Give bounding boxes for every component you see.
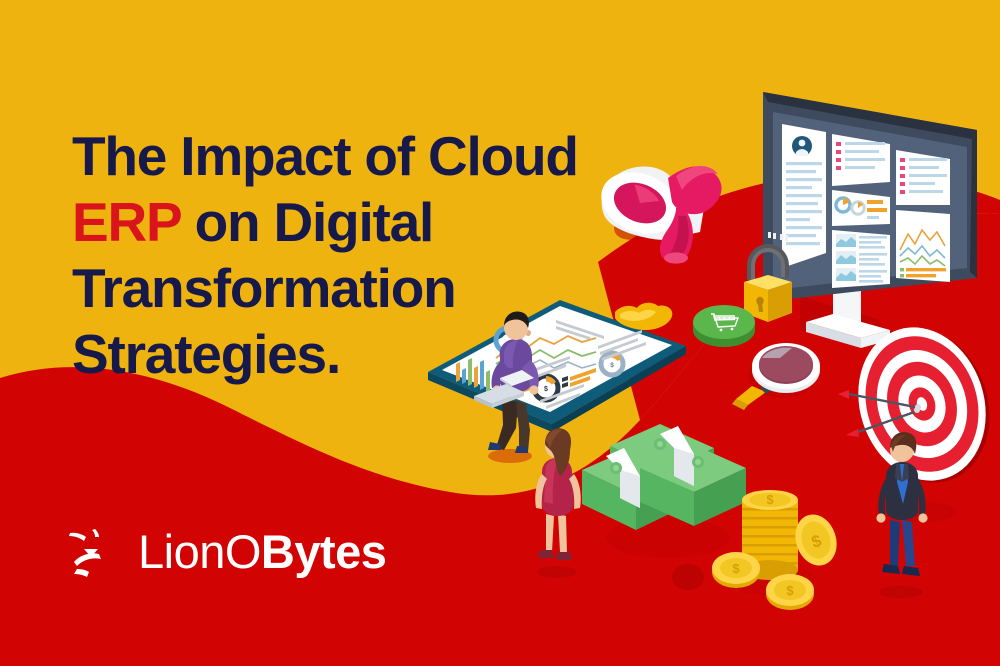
coin-symbol: $	[766, 492, 774, 507]
headline-accent-erp: ERP	[72, 191, 181, 253]
headline-line-4: Strategies.	[72, 323, 340, 385]
logo-text-bold: Bytes	[261, 525, 387, 578]
monitor-dashboard	[763, 92, 977, 348]
money-stacks	[582, 424, 746, 558]
magnifier	[732, 343, 820, 410]
svg-text:$: $	[544, 386, 548, 393]
brand-logo[interactable]: LionOBytes	[68, 524, 386, 578]
banner-canvas: $ $	[0, 0, 1000, 666]
headline-line-1: The Impact of Cloud	[72, 125, 578, 187]
logo-wordmark: LionOBytes	[138, 528, 386, 575]
headline-line-3: Transformation	[72, 257, 456, 319]
standing-woman-red-dress	[535, 428, 581, 578]
headline-line-2-rest: on Digital	[181, 191, 434, 253]
lion-head-mark	[68, 524, 120, 578]
page-title: The Impact of Cloud ERP on Digital Trans…	[72, 123, 712, 387]
svg-text:$: $	[732, 561, 740, 576]
svg-text:$: $	[786, 583, 794, 598]
logo-text-light: LionO	[138, 525, 261, 578]
